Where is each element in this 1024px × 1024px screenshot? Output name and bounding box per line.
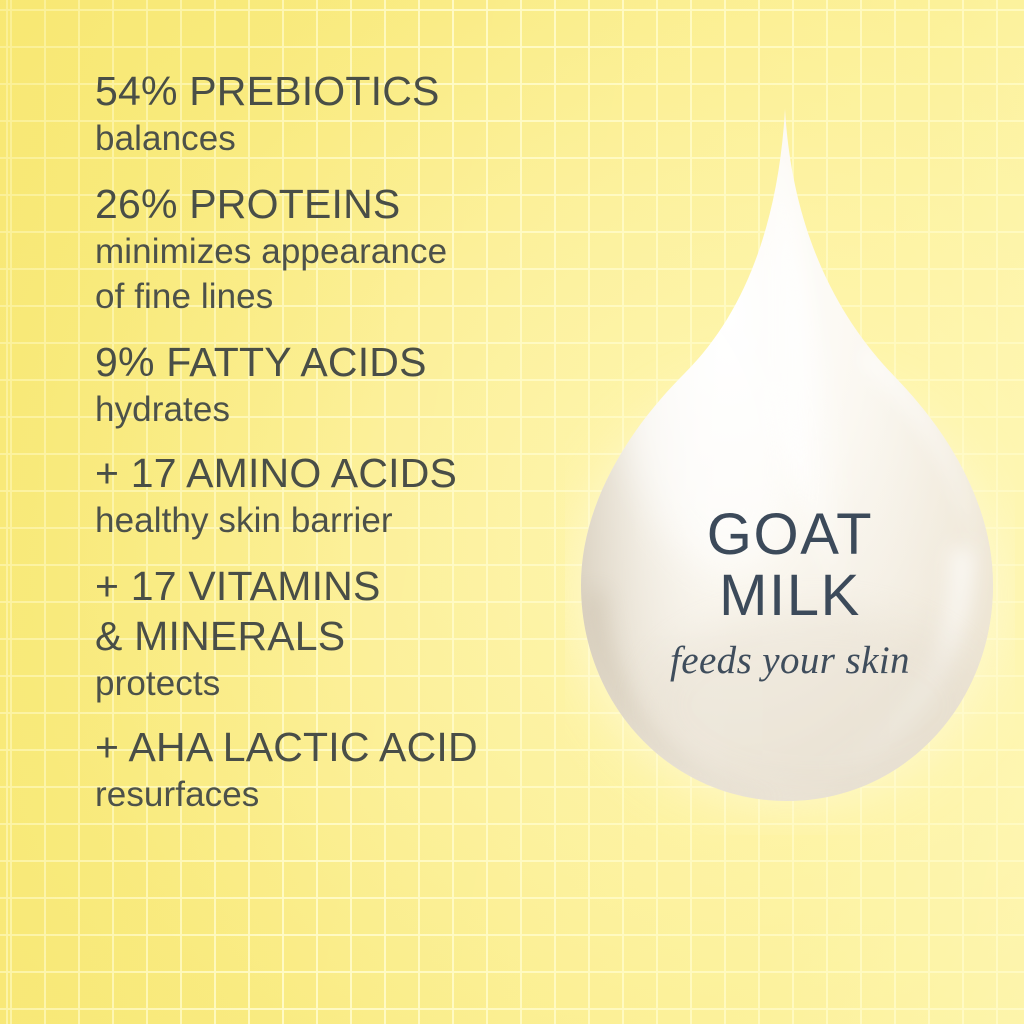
fact-heading: + 17 AMINO ACIDS <box>95 448 565 498</box>
fact-description: balances <box>95 116 565 161</box>
fact-item-fatty-acids: 9% FATTY ACIDS hydrates <box>95 337 565 432</box>
fact-description: protects <box>95 661 565 706</box>
milk-droplet-icon <box>565 95 1015 835</box>
fact-heading: + AHA LACTIC ACID <box>95 722 565 772</box>
fact-description: resurfaces <box>95 772 565 817</box>
fact-heading: 54% PREBIOTICS <box>95 66 565 116</box>
fact-heading: 26% PROTEINS <box>95 179 565 229</box>
fact-heading: 9% FATTY ACIDS <box>95 337 565 387</box>
ingredient-fact-list: 54% PREBIOTICS balances 26% PROTEINS min… <box>95 66 565 817</box>
fact-description: minimizes appearance of fine lines <box>95 229 565 319</box>
fact-item-amino-acids: + 17 AMINO ACIDS healthy skin barrier <box>95 448 565 543</box>
fact-item-proteins: 26% PROTEINS minimizes appearance of fin… <box>95 179 565 319</box>
milk-droplet-graphic: GOAT MILK feeds your skin <box>565 95 1015 835</box>
droplet-core-shade <box>645 610 985 800</box>
fact-item-aha-lactic-acid: + AHA LACTIC ACID resurfaces <box>95 722 565 817</box>
fact-heading: + 17 VITAMINS & MINERALS <box>95 561 565 661</box>
fact-description: healthy skin barrier <box>95 498 565 543</box>
infographic-canvas: 54% PREBIOTICS balances 26% PROTEINS min… <box>0 0 1024 1024</box>
fact-description: hydrates <box>95 387 565 432</box>
fact-item-vitamins-minerals: + 17 VITAMINS & MINERALS protects <box>95 561 565 706</box>
fact-item-prebiotics: 54% PREBIOTICS balances <box>95 66 565 161</box>
